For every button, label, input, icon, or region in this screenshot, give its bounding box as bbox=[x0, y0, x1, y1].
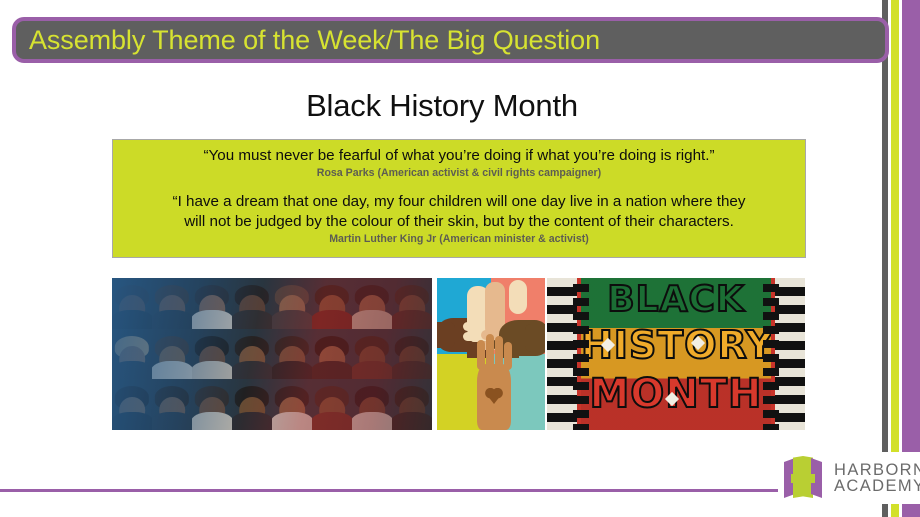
poster-word-black: BLACK bbox=[581, 282, 771, 318]
diverse-hands-image bbox=[437, 278, 545, 430]
title-bar-text: Assembly Theme of the Week/The Big Quest… bbox=[16, 27, 600, 54]
harborne-h-monogram-icon bbox=[780, 455, 826, 501]
poster-triangles-right bbox=[763, 278, 779, 430]
black-history-month-poster-image: BLACK HISTORY MONTH bbox=[547, 278, 805, 430]
slide-canvas: Assembly Theme of the Week/The Big Quest… bbox=[0, 0, 920, 517]
quote-attribution: Martin Luther King Jr (American minister… bbox=[123, 233, 795, 247]
quote-attribution: Rosa Parks (American activist & civil ri… bbox=[123, 167, 795, 181]
hand-pale-right-top bbox=[509, 280, 527, 314]
poster-word-month: MONTH bbox=[581, 374, 771, 414]
footer-divider bbox=[0, 489, 792, 492]
collage-face-grid bbox=[112, 278, 432, 430]
harborne-academy-logo: HARBORNE ACADEMY bbox=[778, 452, 920, 504]
edge-stripe-gray bbox=[882, 0, 888, 517]
black-icons-collage-image bbox=[112, 278, 432, 430]
henna-heart-motif bbox=[485, 388, 503, 404]
quote-text-line-1: “I have a dream that one day, my four ch… bbox=[123, 192, 795, 212]
quote-text-line-2: will not be judged by the colour of thei… bbox=[123, 212, 795, 232]
poster-core: BLACK HISTORY MONTH bbox=[581, 278, 771, 430]
quote-block-mlk: “I have a dream that one day, my four ch… bbox=[123, 192, 795, 247]
quotes-panel: “You must never be fearful of what you’r… bbox=[112, 139, 806, 258]
page-title: Black History Month bbox=[0, 88, 884, 124]
title-bar: Assembly Theme of the Week/The Big Quest… bbox=[12, 17, 889, 63]
logo-wordmark: HARBORNE ACADEMY bbox=[834, 462, 920, 495]
quote-block-rosa-parks: “You must never be fearful of what you’r… bbox=[123, 146, 795, 181]
edge-stripe-purple bbox=[902, 0, 920, 517]
poster-triangles-left bbox=[573, 278, 589, 430]
logo-line-2: ACADEMY bbox=[834, 478, 920, 495]
quote-text: “You must never be fearful of what you’r… bbox=[123, 146, 795, 166]
logo-line-1: HARBORNE bbox=[834, 462, 920, 479]
edge-stripe-yellow bbox=[891, 0, 899, 517]
